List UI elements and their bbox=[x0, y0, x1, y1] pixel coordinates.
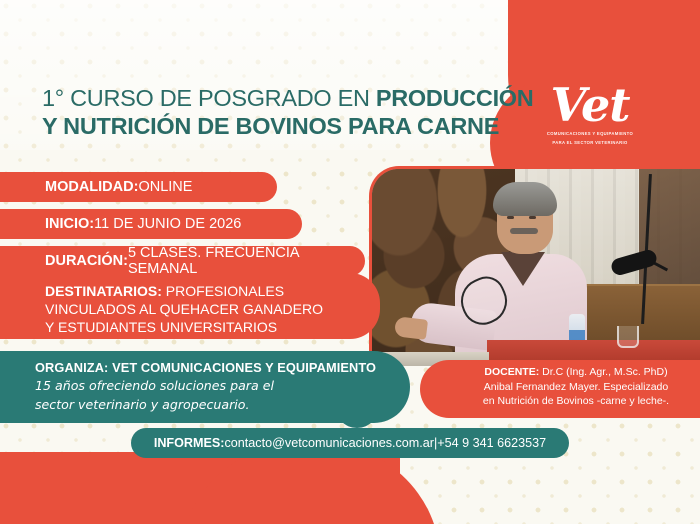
docente-line-3: en Nutrición de Bovinos -carne y leche-. bbox=[446, 394, 700, 409]
photo-speaker-hair bbox=[493, 182, 557, 216]
informes-key: INFORMES: bbox=[154, 436, 225, 450]
docente-line-1: DOCENTE: Dr.C (Ing. Agr., M.Sc. PhD) bbox=[446, 365, 700, 380]
docente-credentials: Dr.C (Ing. Agr., M.Sc. PhD) bbox=[539, 366, 667, 378]
detail-pill-destinatarios-line-2: VINCULADOS AL QUEHACER GANADERO bbox=[45, 300, 323, 318]
detail-pill-inicio: INICIO: 11 DE JUNIO DE 2026 bbox=[0, 209, 302, 239]
detail-pill-destinatarios: DESTINATARIOS: PROFESIONALES VINCULADOS … bbox=[0, 273, 380, 339]
page-title-line-1-bold: PRODUCCIÓN bbox=[376, 85, 534, 111]
photo-speaker-eye-right bbox=[529, 216, 536, 219]
informes-bar: INFORMES: contacto@vetcomunicaciones.com… bbox=[131, 428, 569, 458]
page-title-line-2: Y NUTRICIÓN DE BOVINOS PARA CARNE bbox=[42, 112, 482, 140]
detail-pill-modalidad: MODALIDAD: ONLINE bbox=[0, 172, 277, 202]
detail-pill-destinatarios-value: PROFESIONALES bbox=[162, 283, 284, 299]
detail-pill-destinatarios-line-3: Y ESTUDIANTES UNIVERSITARIOS bbox=[45, 318, 277, 336]
organiza-subtitle-line-2: sector veterinario y agropecuario. bbox=[35, 396, 410, 413]
page-title-line-1: 1° CURSO DE POSGRADO EN PRODUCCIÓN bbox=[42, 84, 482, 112]
speaker-photo bbox=[369, 166, 700, 366]
speaker-photo-inner bbox=[369, 166, 700, 366]
docente-line-2: Anibal Fernandez Mayer. Especializado bbox=[446, 380, 700, 395]
detail-pill-inicio-value: 11 DE JUNIO DE 2026 bbox=[94, 216, 241, 232]
page-title: 1° CURSO DE POSGRADO EN PRODUCCIÓN Y NUT… bbox=[42, 84, 482, 140]
detail-pill-destinatarios-line-1: DESTINATARIOS: PROFESIONALES bbox=[45, 282, 284, 300]
photo-speaker-moustache bbox=[510, 228, 538, 234]
informes-email[interactable]: contacto@vetcomunicaciones.com.ar bbox=[225, 436, 434, 450]
flyer-canvas: Vet COMUNICACIONES Y EQUIPAMIENTO PARA E… bbox=[0, 0, 700, 524]
detail-pill-inicio-key: INICIO: bbox=[45, 216, 94, 232]
detail-pill-duracion: DURACIÓN: 5 CLASES. FRECUENCIA SEMANAL bbox=[0, 246, 365, 276]
vet-logo-tagline-line2: PARA EL SECTOR VETERINARIO bbox=[520, 140, 660, 146]
detail-pill-duracion-key: DURACIÓN: bbox=[45, 253, 128, 269]
informes-phone[interactable]: +54 9 341 6623537 bbox=[437, 436, 546, 450]
detail-pill-modalidad-key: MODALIDAD: bbox=[45, 179, 138, 195]
vet-logo-wordmark: Vet bbox=[520, 82, 660, 128]
organiza-band: ORGANIZA: VET COMUNICACIONES Y EQUIPAMIE… bbox=[0, 351, 410, 423]
vet-logo-tagline-line1: COMUNICACIONES Y EQUIPAMIENTO bbox=[520, 131, 660, 137]
detail-pill-modalidad-value: ONLINE bbox=[138, 179, 192, 195]
organiza-subtitle-line-1: 15 años ofreciendo soluciones para el bbox=[35, 377, 410, 394]
photo-speaker-eye-left bbox=[507, 216, 514, 219]
vet-logo: Vet COMUNICACIONES Y EQUIPAMIENTO PARA E… bbox=[520, 82, 660, 146]
organiza-title: ORGANIZA: VET COMUNICACIONES Y EQUIPAMIE… bbox=[35, 360, 410, 375]
detail-pill-destinatarios-key: DESTINATARIOS: bbox=[45, 283, 162, 299]
docente-band: DOCENTE: Dr.C (Ing. Agr., M.Sc. PhD) Ani… bbox=[420, 360, 700, 418]
docente-key: DOCENTE: bbox=[484, 366, 539, 378]
page-title-line-1-light: 1° CURSO DE POSGRADO EN bbox=[42, 85, 376, 111]
photo-drinking-glass bbox=[617, 326, 639, 348]
